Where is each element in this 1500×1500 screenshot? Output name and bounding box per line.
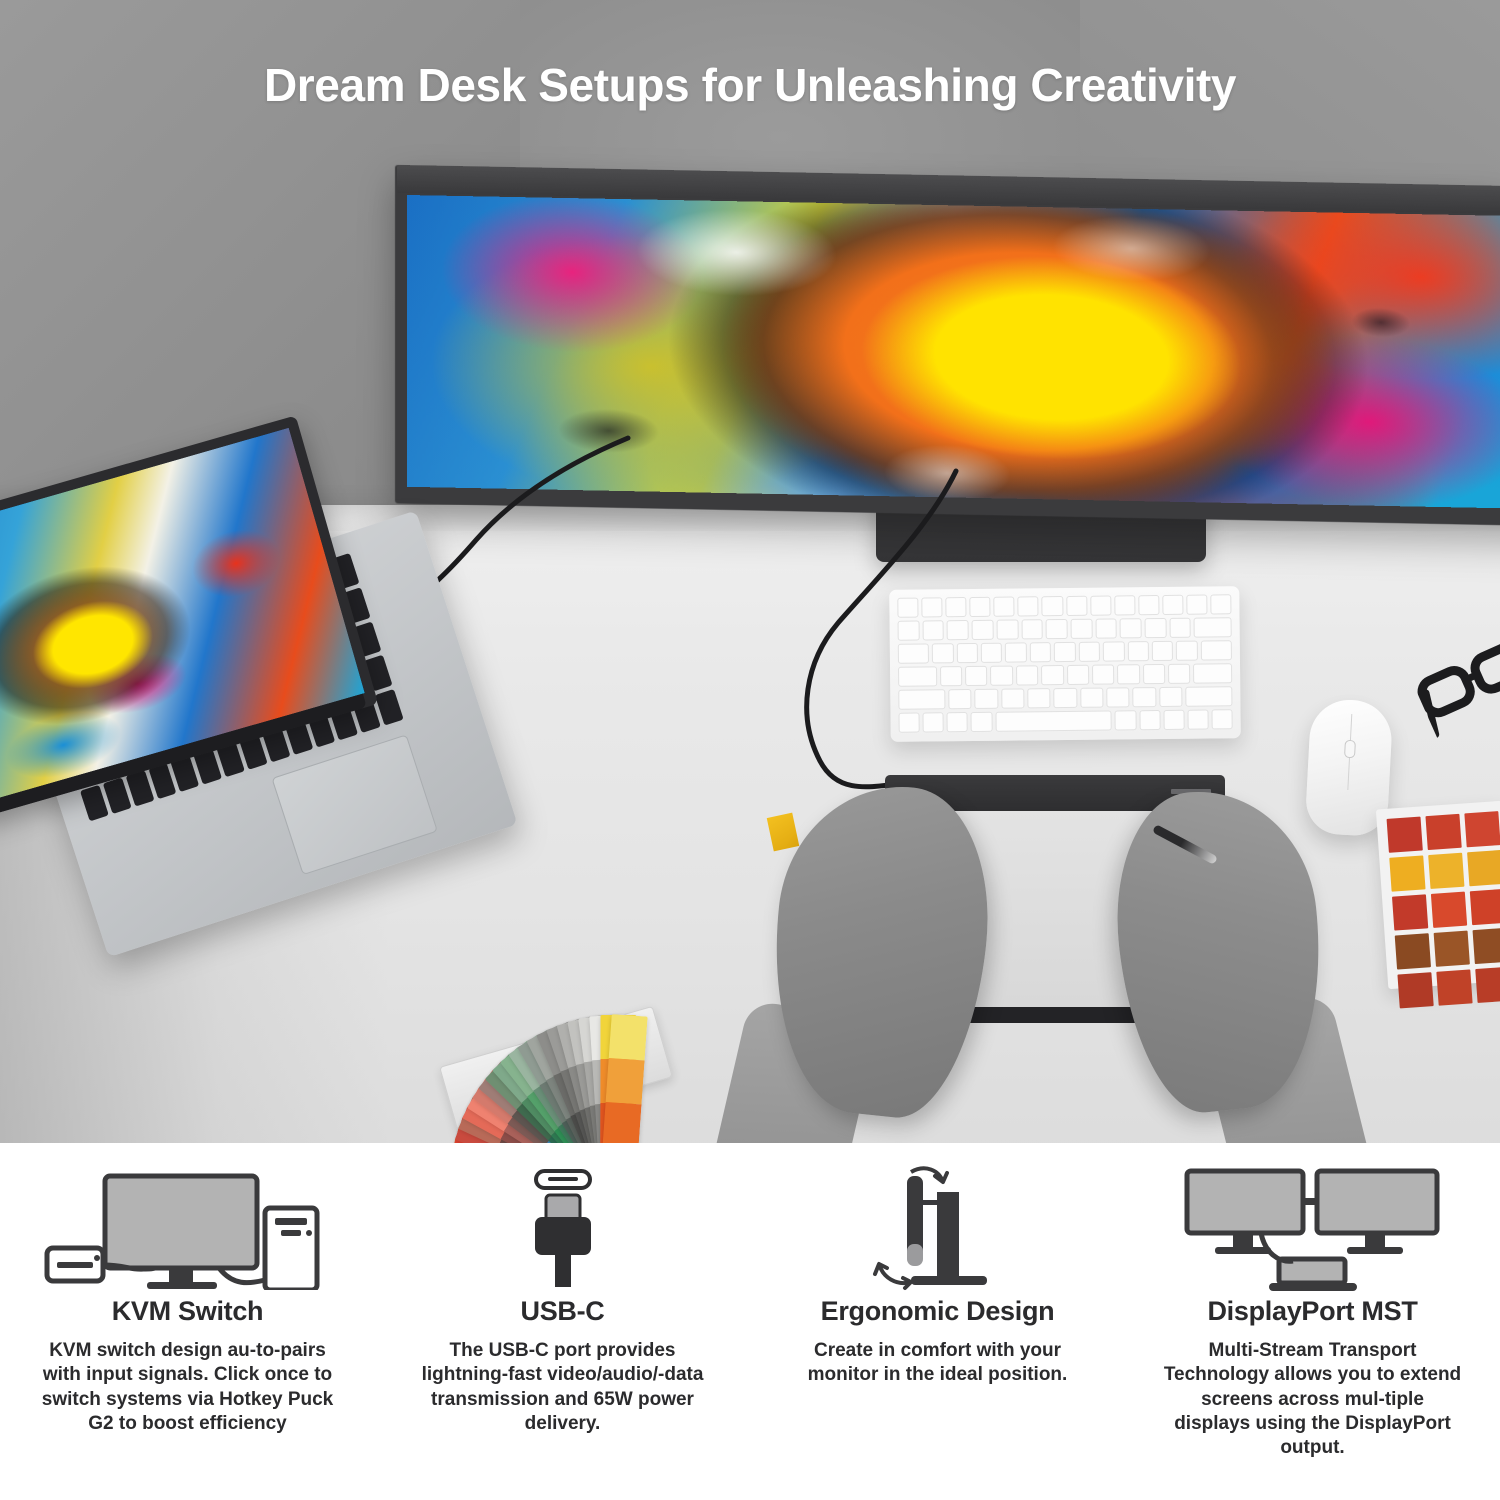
feature-displayport-mst: DisplayPort MST Multi-Stream Transport T… <box>1125 1143 1500 1500</box>
feature-description: Multi-Stream Transport Technology allows… <box>1163 1339 1463 1461</box>
features-section: KVM Switch KVM switch design au-to-pairs… <box>0 1143 1500 1500</box>
feature-title: Ergonomic Design <box>821 1296 1055 1327</box>
swatch-cell <box>1434 931 1470 967</box>
feature-description: The USB-C port provides lightning-fast v… <box>413 1339 713 1436</box>
feature-ergonomic-design: Ergonomic Design Create in comfort with … <box>750 1143 1125 1500</box>
swatch-cell <box>1395 933 1431 969</box>
swatch-grid <box>1387 811 1500 1009</box>
hero-photo-section: Dream Desk Setups for Unleashing Creativ… <box>0 0 1500 1143</box>
keyboard-row <box>898 617 1232 640</box>
swatch-cell <box>1431 892 1467 928</box>
usb-c-connector-icon <box>488 1167 638 1292</box>
page-title: Dream Desk Setups for Unleashing Creativ… <box>0 58 1500 112</box>
keyboard-row <box>898 663 1232 686</box>
ergonomic-stand-icon <box>863 1167 1013 1292</box>
swatch-cell <box>1392 894 1428 930</box>
feature-title: USB-C <box>521 1296 605 1327</box>
swatch-cell <box>1475 967 1500 1003</box>
swatch-cell <box>1473 928 1500 964</box>
feature-title: DisplayPort MST <box>1207 1296 1417 1327</box>
swatch-cell <box>1397 972 1433 1008</box>
keyboard-row <box>898 686 1232 709</box>
feature-description: Create in comfort with your monitor in t… <box>788 1339 1088 1388</box>
mouse-scroll-wheel <box>1344 740 1356 759</box>
swatch-cell <box>1436 969 1472 1005</box>
keyboard-row <box>899 709 1233 732</box>
keyboard-row <box>898 640 1232 663</box>
swatch-cell <box>1464 811 1500 847</box>
swatch-cell <box>1467 850 1500 886</box>
kvm-switch-icon <box>43 1167 333 1292</box>
swatch-cell <box>1425 814 1461 850</box>
displayport-mst-icon <box>1183 1167 1443 1292</box>
keyboard-row <box>897 594 1231 617</box>
swatch-cell <box>1389 855 1425 891</box>
swatch-cell <box>1428 853 1464 889</box>
wireless-keyboard <box>889 586 1241 742</box>
feature-kvm-switch: KVM Switch KVM switch design au-to-pairs… <box>0 1143 375 1500</box>
swatch-cell <box>1470 889 1500 925</box>
color-swatch-card <box>1376 801 1500 989</box>
feature-description: KVM switch design au-to-pairs with input… <box>38 1339 338 1436</box>
product-infographic-page: Dream Desk Setups for Unleashing Creativ… <box>0 0 1500 1500</box>
swatch-cell <box>1387 817 1423 853</box>
feature-title: KVM Switch <box>112 1296 264 1327</box>
feature-usb-c: USB-C The USB-C port provides lightning-… <box>375 1143 750 1500</box>
